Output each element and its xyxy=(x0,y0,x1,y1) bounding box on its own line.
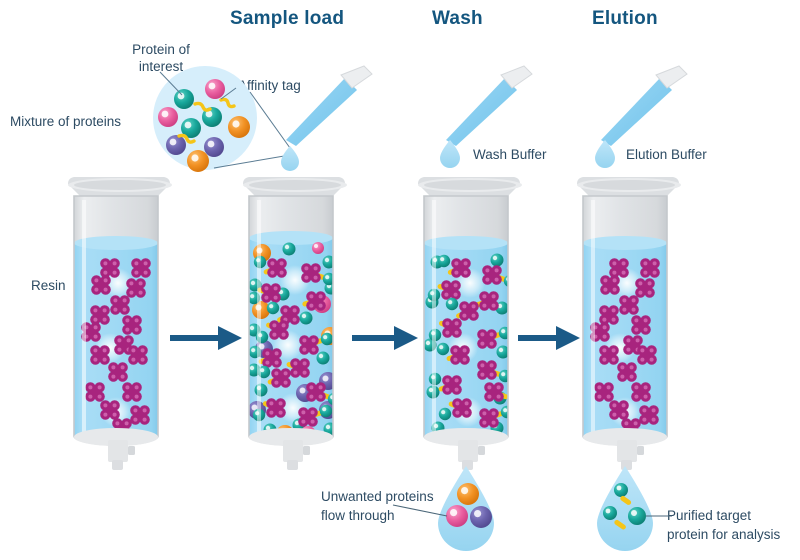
label-wash-buffer: Wash Buffer xyxy=(473,147,547,164)
label-purified-protein-1: Purified target xyxy=(667,508,751,525)
column-1-resin xyxy=(68,177,172,470)
arrow-2 xyxy=(352,326,418,350)
column-2-sample-load xyxy=(243,177,347,470)
resin-beads-column-2 xyxy=(248,256,340,427)
label-mixture-of-proteins: Mixture of proteins xyxy=(10,114,121,131)
label-affinity-tag: Affinity tag xyxy=(238,78,301,95)
elution-droplet xyxy=(597,466,672,551)
label-purified-protein-2: protein for analysis xyxy=(667,527,780,544)
flow-through-droplet xyxy=(393,466,494,551)
resin-beads-column-3 xyxy=(424,254,517,435)
label-unwanted-proteins-1: Unwanted proteins xyxy=(321,489,434,506)
resin-beads-column-4 xyxy=(590,258,660,438)
label-resin: Resin xyxy=(31,278,66,295)
label-unwanted-proteins-2: flow through xyxy=(321,508,395,525)
label-elution-buffer: Elution Buffer xyxy=(626,147,707,164)
column-4-elution xyxy=(577,177,681,470)
label-protein-of-interest-1: Protein of xyxy=(113,42,209,59)
arrow-3 xyxy=(518,326,580,350)
arrow-1 xyxy=(170,326,242,350)
resin-beads-column-1 xyxy=(81,258,151,438)
step-title-elution: Elution xyxy=(592,8,658,30)
label-protein-of-interest-2: interest xyxy=(113,59,209,76)
affinity-chromatography-diagram: Sample load Wash Elution Mixture of prot… xyxy=(0,0,800,560)
step-title-wash: Wash xyxy=(432,8,483,30)
column-3-wash xyxy=(418,177,522,470)
proteins-column-2 xyxy=(248,242,340,443)
step-title-sample-load: Sample load xyxy=(230,8,344,30)
